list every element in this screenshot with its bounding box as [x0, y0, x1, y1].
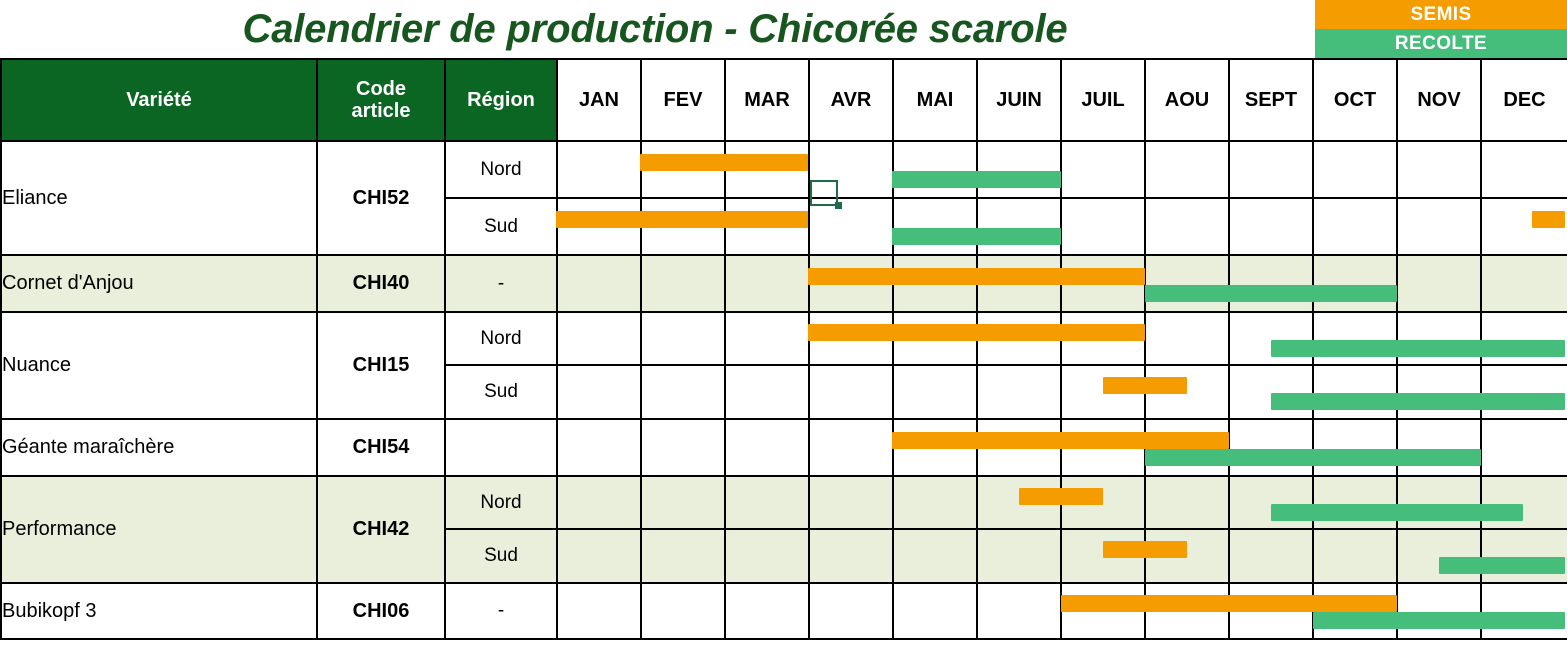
- month-cell[interactable]: [725, 141, 809, 198]
- month-cell[interactable]: [977, 419, 1061, 476]
- table-row: NuanceCHI15Nord: [1, 312, 1567, 365]
- region-cell[interactable]: Sud: [445, 198, 557, 255]
- month-cell[interactable]: [1313, 255, 1397, 312]
- month-cell[interactable]: [1313, 141, 1397, 198]
- col-header-variete: Variété: [1, 59, 317, 141]
- code-article-cell[interactable]: CHI54: [317, 419, 445, 476]
- month-cell[interactable]: [1061, 419, 1145, 476]
- month-cell[interactable]: [809, 312, 893, 365]
- month-cell[interactable]: [1061, 255, 1145, 312]
- code-article-cell[interactable]: CHI15: [317, 312, 445, 419]
- month-cell[interactable]: [809, 419, 893, 476]
- month-cell[interactable]: [809, 583, 893, 639]
- month-cell[interactable]: [725, 583, 809, 639]
- region-cell[interactable]: -: [445, 255, 557, 312]
- month-cell[interactable]: [809, 365, 893, 419]
- month-cell[interactable]: [725, 476, 809, 529]
- month-cell[interactable]: [1313, 529, 1397, 583]
- month-cell[interactable]: [725, 255, 809, 312]
- month-cell[interactable]: [725, 419, 809, 476]
- month-cell[interactable]: [1481, 529, 1567, 583]
- month-cell[interactable]: [893, 365, 977, 419]
- table-row: Cornet d'AnjouCHI40-: [1, 255, 1567, 312]
- month-cell[interactable]: [725, 198, 809, 255]
- table-row: PerformanceCHI42Nord: [1, 476, 1567, 529]
- region-cell[interactable]: Sud: [445, 365, 557, 419]
- month-cell[interactable]: [1397, 365, 1481, 419]
- month-cell[interactable]: [1481, 476, 1567, 529]
- month-cell[interactable]: [1145, 583, 1229, 639]
- month-cell[interactable]: [1061, 312, 1145, 365]
- month-cell[interactable]: [1229, 312, 1313, 365]
- month-cell[interactable]: [1145, 419, 1229, 476]
- month-cell[interactable]: [641, 365, 725, 419]
- col-header-region: Région: [445, 59, 557, 141]
- month-cell[interactable]: [1397, 255, 1481, 312]
- month-cell[interactable]: [725, 365, 809, 419]
- variety-cell[interactable]: Performance: [1, 476, 317, 583]
- region-cell[interactable]: Nord: [445, 312, 557, 365]
- region-cell[interactable]: Nord: [445, 476, 557, 529]
- month-cell[interactable]: [641, 419, 725, 476]
- variety-cell[interactable]: Géante maraîchère: [1, 419, 317, 476]
- month-cell[interactable]: [1145, 198, 1229, 255]
- col-header-month-nov: NOV: [1397, 59, 1481, 141]
- page-title: Calendrier de production - Chicorée scar…: [0, 0, 1310, 58]
- month-cell[interactable]: [1061, 365, 1145, 419]
- month-cell[interactable]: [557, 255, 641, 312]
- header-row: Variété Code article Région JAN FEV MAR …: [1, 59, 1567, 141]
- month-cell[interactable]: [1481, 141, 1567, 198]
- month-cell[interactable]: [1481, 419, 1567, 476]
- variety-cell[interactable]: Cornet d'Anjou: [1, 255, 317, 312]
- month-cell[interactable]: [641, 141, 725, 198]
- month-cell[interactable]: [557, 312, 641, 365]
- month-cell[interactable]: [641, 312, 725, 365]
- col-header-code-line1: Code: [318, 78, 444, 100]
- month-cell[interactable]: [1061, 529, 1145, 583]
- month-cell[interactable]: [1145, 141, 1229, 198]
- month-cell[interactable]: [641, 476, 725, 529]
- month-cell[interactable]: [893, 476, 977, 529]
- month-cell[interactable]: [1313, 419, 1397, 476]
- month-cell[interactable]: [1481, 583, 1567, 639]
- month-cell[interactable]: [1481, 365, 1567, 419]
- month-cell[interactable]: [977, 365, 1061, 419]
- table-row: Bubikopf 3CHI06-: [1, 583, 1567, 639]
- region-cell[interactable]: Sud: [445, 529, 557, 583]
- col-header-month-fev: FEV: [641, 59, 725, 141]
- month-cell[interactable]: [1397, 198, 1481, 255]
- month-cell[interactable]: [1145, 365, 1229, 419]
- month-cell[interactable]: [977, 312, 1061, 365]
- month-cell[interactable]: [1229, 365, 1313, 419]
- month-cell[interactable]: [1061, 583, 1145, 639]
- production-calendar-page: Calendrier de production - Chicorée scar…: [0, 0, 1567, 651]
- month-cell[interactable]: [1397, 583, 1481, 639]
- code-article-cell[interactable]: CHI06: [317, 583, 445, 639]
- month-cell[interactable]: [1061, 476, 1145, 529]
- month-cell[interactable]: [1397, 312, 1481, 365]
- month-cell[interactable]: [557, 141, 641, 198]
- month-cell[interactable]: [1145, 529, 1229, 583]
- table-body: ElianceCHI52NordSudCornet d'AnjouCHI40-N…: [1, 141, 1567, 639]
- month-cell[interactable]: [893, 529, 977, 583]
- month-cell[interactable]: [557, 476, 641, 529]
- col-header-code-article: Code article: [317, 59, 445, 141]
- month-cell[interactable]: [1313, 365, 1397, 419]
- month-cell[interactable]: [809, 529, 893, 583]
- month-cell[interactable]: [893, 312, 977, 365]
- month-cell[interactable]: [809, 255, 893, 312]
- table-row: ElianceCHI52Nord: [1, 141, 1567, 198]
- code-article-cell[interactable]: CHI52: [317, 141, 445, 255]
- month-cell[interactable]: [893, 419, 977, 476]
- legend: SEMIS RECOLTE: [1315, 0, 1567, 58]
- month-cell[interactable]: [1397, 141, 1481, 198]
- month-cell[interactable]: [1229, 419, 1313, 476]
- variety-cell[interactable]: Eliance: [1, 141, 317, 255]
- month-cell[interactable]: [1145, 255, 1229, 312]
- month-cell[interactable]: [1481, 255, 1567, 312]
- month-cell[interactable]: [1313, 583, 1397, 639]
- variety-cell[interactable]: Nuance: [1, 312, 317, 419]
- month-cell[interactable]: [725, 312, 809, 365]
- month-cell[interactable]: [893, 255, 977, 312]
- month-cell[interactable]: [1397, 419, 1481, 476]
- title-band: Calendrier de production - Chicorée scar…: [0, 0, 1567, 58]
- month-cell[interactable]: [893, 198, 977, 255]
- month-cell[interactable]: [1229, 198, 1313, 255]
- month-cell[interactable]: [893, 583, 977, 639]
- region-cell[interactable]: -: [445, 583, 557, 639]
- col-header-month-oct: OCT: [1313, 59, 1397, 141]
- month-cell[interactable]: [1061, 198, 1145, 255]
- month-cell[interactable]: [557, 583, 641, 639]
- month-cell[interactable]: [1229, 529, 1313, 583]
- month-cell[interactable]: [1397, 476, 1481, 529]
- month-cell[interactable]: [809, 198, 893, 255]
- month-cell[interactable]: [1229, 476, 1313, 529]
- col-header-month-mai: MAI: [893, 59, 977, 141]
- code-article-cell[interactable]: CHI42: [317, 476, 445, 583]
- month-cell[interactable]: [977, 529, 1061, 583]
- month-cell[interactable]: [977, 583, 1061, 639]
- month-cell[interactable]: [725, 529, 809, 583]
- month-cell[interactable]: [1313, 476, 1397, 529]
- col-header-month-juin: JUIN: [977, 59, 1061, 141]
- month-cell[interactable]: [1145, 312, 1229, 365]
- month-cell[interactable]: [1313, 312, 1397, 365]
- month-cell[interactable]: [809, 476, 893, 529]
- calendar-table: Variété Code article Région JAN FEV MAR …: [0, 58, 1567, 640]
- month-cell[interactable]: [1481, 198, 1567, 255]
- month-cell[interactable]: [977, 476, 1061, 529]
- month-cell[interactable]: [893, 141, 977, 198]
- region-cell[interactable]: [445, 419, 557, 476]
- month-cell[interactable]: [641, 583, 725, 639]
- table-header: Variété Code article Région JAN FEV MAR …: [1, 59, 1567, 141]
- month-cell[interactable]: [1481, 312, 1567, 365]
- month-cell[interactable]: [1061, 141, 1145, 198]
- month-cell[interactable]: [557, 365, 641, 419]
- col-header-month-dec: DEC: [1481, 59, 1567, 141]
- month-cell[interactable]: [1145, 476, 1229, 529]
- month-cell[interactable]: [809, 141, 893, 198]
- code-article-cell[interactable]: CHI40: [317, 255, 445, 312]
- month-cell[interactable]: [641, 529, 725, 583]
- month-cell[interactable]: [977, 255, 1061, 312]
- col-header-month-avr: AVR: [809, 59, 893, 141]
- month-cell[interactable]: [1229, 141, 1313, 198]
- variety-cell[interactable]: Bubikopf 3: [1, 583, 317, 639]
- col-header-month-mar: MAR: [725, 59, 809, 141]
- month-cell[interactable]: [977, 141, 1061, 198]
- month-cell[interactable]: [557, 419, 641, 476]
- col-header-month-juil: JUIL: [1061, 59, 1145, 141]
- month-cell[interactable]: [1229, 255, 1313, 312]
- month-cell[interactable]: [1229, 583, 1313, 639]
- month-cell[interactable]: [557, 529, 641, 583]
- month-cell[interactable]: [1397, 529, 1481, 583]
- table-row: Géante maraîchèreCHI54: [1, 419, 1567, 476]
- month-cell[interactable]: [557, 198, 641, 255]
- month-cell[interactable]: [641, 255, 725, 312]
- month-cell[interactable]: [1313, 198, 1397, 255]
- col-header-month-jan: JAN: [557, 59, 641, 141]
- month-cell[interactable]: [641, 198, 725, 255]
- month-cell[interactable]: [977, 198, 1061, 255]
- legend-item-semis: SEMIS: [1315, 0, 1567, 29]
- legend-item-recolte: RECOLTE: [1315, 29, 1567, 58]
- region-cell[interactable]: Nord: [445, 141, 557, 198]
- col-header-code-line2: article: [318, 100, 444, 122]
- col-header-month-aou: AOU: [1145, 59, 1229, 141]
- col-header-month-sept: SEPT: [1229, 59, 1313, 141]
